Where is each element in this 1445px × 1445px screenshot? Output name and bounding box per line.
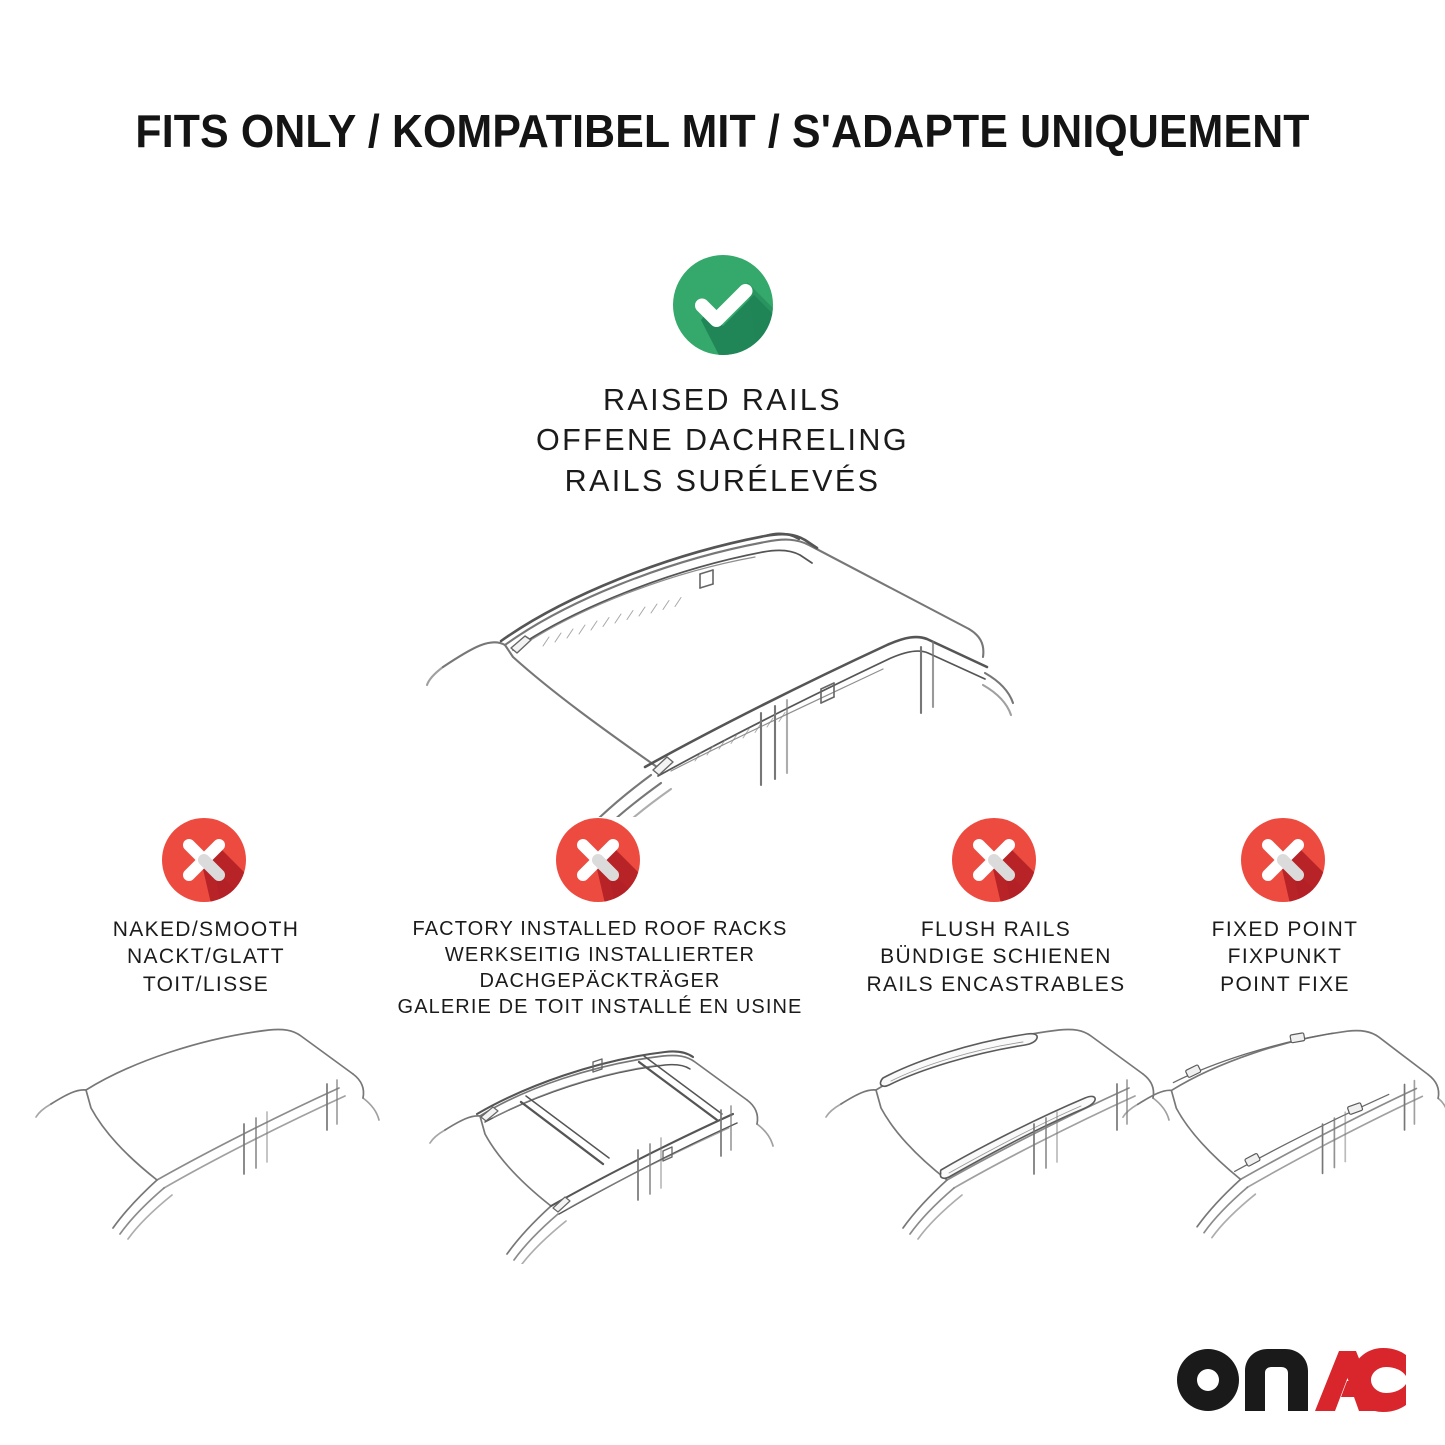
car-roof-naked-smooth-illustration — [28, 1012, 384, 1242]
page-title: FITS ONLY / KOMPATIBEL MIT / S'ADAPTE UN… — [51, 104, 1395, 158]
compatible-label-en: RAISED RAILS — [0, 380, 1445, 420]
incompatible-badge-wrap-2 — [818, 812, 1174, 908]
option-label-de-3: FIXPUNKT — [1122, 943, 1445, 970]
option-label-fr-0: TOIT/LISSE — [28, 971, 384, 998]
compatible-badge-wrap — [0, 248, 1445, 362]
incompatible-badge-wrap-0 — [28, 812, 384, 908]
option-label-de-0: NACKT/GLATT — [28, 943, 384, 970]
cross-circle-icon — [550, 812, 650, 908]
cross-circle-icon — [946, 812, 1046, 908]
incompatible-section: NAKED/SMOOTH NACKT/GLATT TOIT/LISSE — [0, 812, 1445, 1252]
compatible-label-fr: RAILS SURÉLEVÉS — [0, 461, 1445, 501]
compatible-section: RAISED RAILS OFFENE DACHRELING RAILS SUR… — [0, 248, 1445, 817]
option-label-en-0: NAKED/SMOOTH — [28, 916, 384, 943]
check-circle-icon — [661, 248, 785, 362]
option-flush-rails: FLUSH RAILS BÜNDIGE SCHIENEN RAILS ENCAS… — [818, 812, 1174, 1242]
cross-circle-icon — [1235, 812, 1335, 908]
option-label-en-2: FLUSH RAILS — [818, 916, 1174, 943]
brand-logo: OMAC — [1175, 1347, 1407, 1413]
option-label-de-2: BÜNDIGE SCHIENEN — [818, 943, 1174, 970]
option-label-en-1: FACTORY INSTALLED ROOF RACKS — [378, 916, 822, 942]
option-label-fr-2: RAILS ENCASTRABLES — [818, 971, 1174, 998]
option-label-fr-3: POINT FIXE — [1122, 971, 1445, 998]
cross-circle-icon — [156, 812, 256, 908]
option-label-de2-1: DACHGEPÄCKTRÄGER — [378, 968, 822, 994]
compatible-label-de: OFFENE DACHRELING — [0, 420, 1445, 460]
option-label-de-1: WERKSEITIG INSTALLIERTER — [378, 942, 822, 968]
car-roof-fixed-point-illustration — [1122, 1012, 1445, 1242]
option-factory-racks: FACTORY INSTALLED ROOF RACKS WERKSEITIG … — [378, 812, 822, 1264]
car-roof-factory-racks-illustration — [378, 1024, 822, 1264]
compatible-label-group: RAISED RAILS OFFENE DACHRELING RAILS SUR… — [0, 380, 1445, 501]
option-label-group-0: NAKED/SMOOTH NACKT/GLATT TOIT/LISSE — [28, 916, 384, 998]
car-roof-flush-rails-illustration — [818, 1012, 1174, 1242]
option-fixed-point: FIXED POINT FIXPUNKT POINT FIXE — [1122, 812, 1445, 1242]
option-label-group-2: FLUSH RAILS BÜNDIGE SCHIENEN RAILS ENCAS… — [818, 916, 1174, 998]
omac-logo-mark — [1175, 1347, 1407, 1413]
car-roof-raised-rails-illustration — [0, 517, 1445, 817]
option-label-en-3: FIXED POINT — [1122, 916, 1445, 943]
option-label-fr-1: GALERIE DE TOIT INSTALLÉ EN USINE — [378, 994, 822, 1020]
option-naked-smooth: NAKED/SMOOTH NACKT/GLATT TOIT/LISSE — [28, 812, 384, 1242]
incompatible-badge-wrap-1 — [378, 812, 822, 908]
incompatible-badge-wrap-3 — [1122, 812, 1445, 908]
option-label-group-3: FIXED POINT FIXPUNKT POINT FIXE — [1122, 916, 1445, 998]
option-label-group-1: FACTORY INSTALLED ROOF RACKS WERKSEITIG … — [378, 916, 822, 1020]
